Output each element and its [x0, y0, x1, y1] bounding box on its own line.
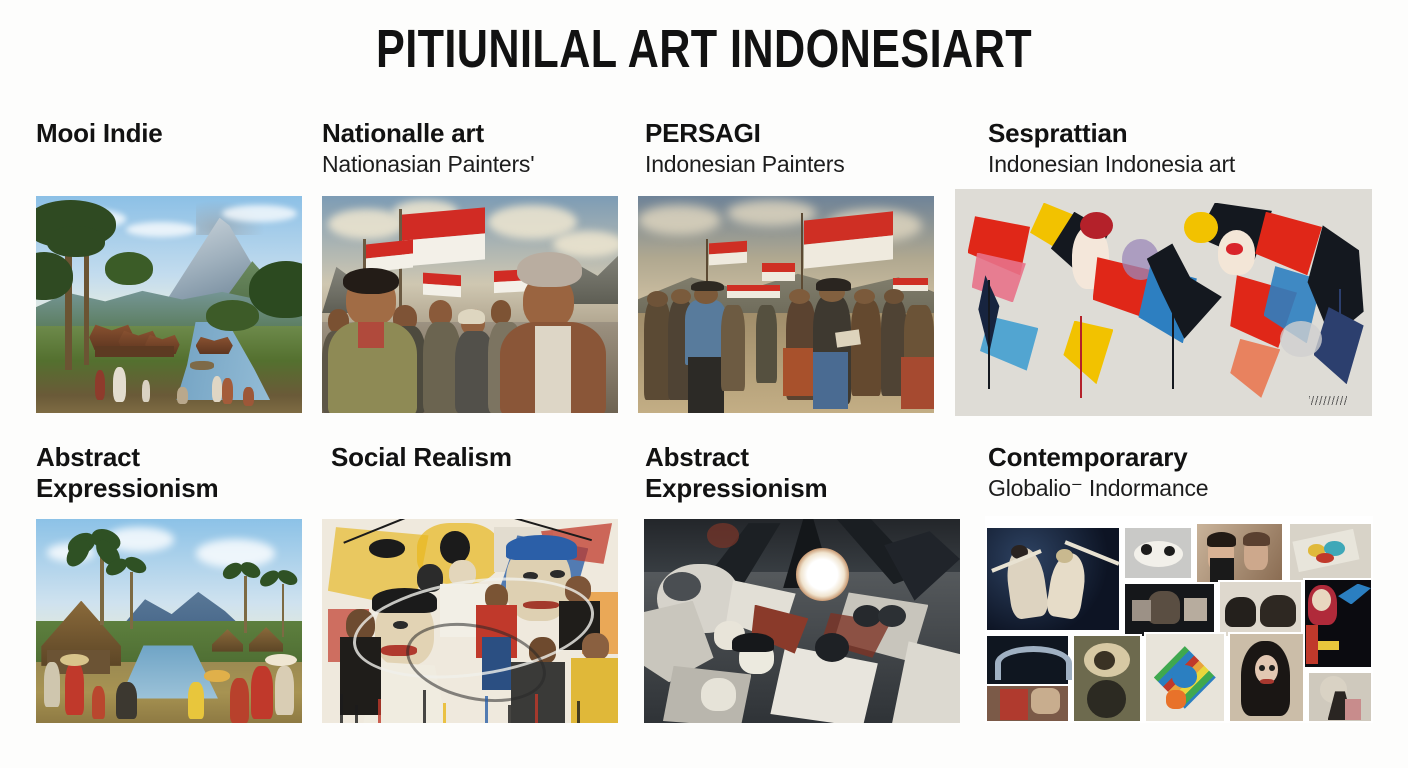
- collage-tile: [1144, 632, 1225, 723]
- artwork-mooi-indie-landscape: [36, 196, 302, 413]
- card-title: Nationalle art: [322, 118, 618, 149]
- artwork-sesprattian-expressionist: [955, 189, 1372, 416]
- card-persagi: PERSAGI Indonesian Painters: [645, 118, 935, 178]
- card-title: Sesprattian: [988, 118, 1368, 149]
- card-title: PERSAGI: [645, 118, 935, 149]
- collage-tile: [1072, 634, 1142, 723]
- artwork-contemporary-collage: [985, 516, 1373, 723]
- card-subtitle: Indonesian Painters: [645, 151, 935, 179]
- collage-tile: [1303, 578, 1373, 669]
- collage-tile: [985, 526, 1121, 632]
- collage-tile: [1195, 522, 1284, 584]
- art-movement-grid: Mooi Indie: [0, 0, 1408, 768]
- card-sesprattian: Sesprattian Indonesian Indonesia art: [988, 118, 1368, 178]
- card-subtitle: Indonesian Indonesia art: [988, 151, 1368, 179]
- card-subtitle: Nationasian Painters': [322, 151, 618, 179]
- card-subtitle: Globalio⁻ Indormance: [988, 475, 1388, 503]
- infographic-page: PITIUNILAL ART INDONESIART Mooi Indie: [0, 0, 1408, 768]
- card-title: Abstract Expressionism: [645, 442, 935, 503]
- card-title: Abstract Expressionism: [36, 442, 306, 503]
- artwork-persagi-revolution: [638, 196, 934, 413]
- artwork-nationalist-crowd: [322, 196, 618, 413]
- collage-tile: [985, 684, 1070, 723]
- card-abstract-expressionism-1: Abstract Expressionism: [36, 442, 306, 503]
- collage-tile: [1218, 580, 1303, 638]
- artwork-social-realism: [322, 519, 618, 723]
- card-title: Social Realism: [331, 442, 621, 473]
- card-social-realism: Social Realism: [331, 442, 621, 473]
- collage-tile: [1288, 522, 1373, 582]
- collage-tile: [1123, 526, 1193, 580]
- card-title: Contemporarary: [988, 442, 1388, 473]
- artwork-palm-village-landscape: [36, 519, 302, 723]
- collage-tile: [985, 634, 1070, 686]
- card-contemporary: Contemporarary Globalio⁻ Indormance: [988, 442, 1388, 502]
- collage-tile: [1123, 582, 1216, 638]
- card-mooi-indie: Mooi Indie: [36, 118, 302, 149]
- collage-tile: [1228, 632, 1306, 723]
- artwork-monochrome-sun: [644, 519, 960, 723]
- card-abstract-expressionism-2: Abstract Expressionism: [645, 442, 935, 503]
- card-nationalle-art: Nationalle art Nationasian Painters': [322, 118, 618, 178]
- card-title: Mooi Indie: [36, 118, 302, 149]
- collage-tile: [1307, 671, 1373, 723]
